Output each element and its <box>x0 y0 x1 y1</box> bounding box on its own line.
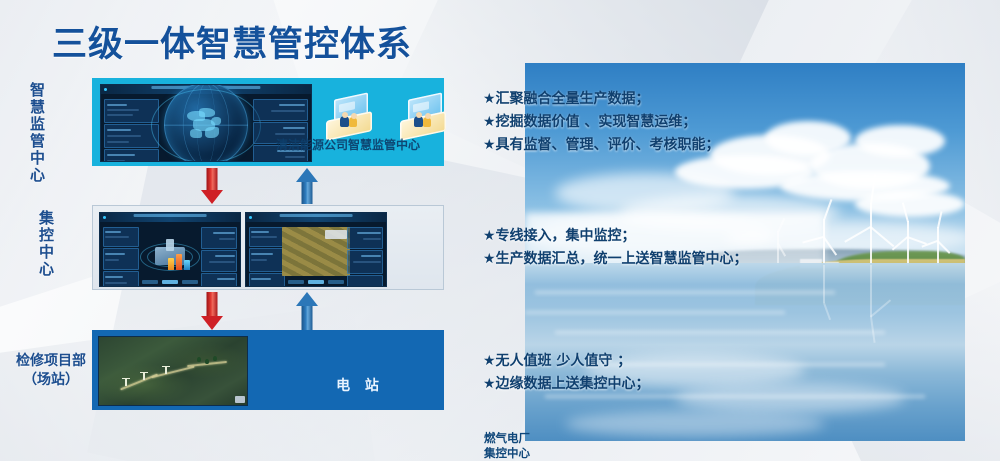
water-streak <box>535 291 835 294</box>
screen-tabs <box>288 280 344 284</box>
bullet-item: ★生产数据汇总，统一上送智慧监管中心； <box>483 248 748 271</box>
level-label-line1: 检修项目部 <box>5 352 97 371</box>
wind-turbine <box>823 219 825 265</box>
map-legend <box>325 230 347 239</box>
water-streak <box>555 331 885 334</box>
panel-centralized-control: 燃气电厂 集控中心 <box>92 205 444 290</box>
cloud-reflection <box>675 383 905 413</box>
bullet-item: ★具有监督、管理、评价、考核职能； <box>483 134 720 157</box>
bar <box>168 258 174 270</box>
china-map <box>181 105 229 145</box>
level-label-centralized-control: 集控中心 <box>36 210 57 278</box>
slide-canvas: 三级一体智慧管控体系 智慧监管中心 集控中心 检修项目部 （场站） <box>0 0 1000 461</box>
terrain-map <box>282 227 349 276</box>
panel-middle-caption-line2: 集控中心 <box>467 446 547 461</box>
map-scale-badge <box>235 396 245 403</box>
bullet-group-maintenance-site: ★无人值班 少人值守 ； ★边缘数据上送集控中心； <box>483 350 650 396</box>
wind-turbine <box>907 221 909 265</box>
arrow-down-bottom <box>200 292 224 330</box>
page-title: 三级一体智慧管控体系 <box>52 16 412 67</box>
bullet-group-centralized-control: ★专线接入，集中监控； ★生产数据汇总，统一上送智慧监管中心； <box>483 225 748 271</box>
bullet-group-smart-supervision: ★汇聚融合全量生产数据； ★挖掘数据价值 、实现智慧运维； ★具有监督、管理、评… <box>483 88 720 157</box>
panel-bottom-caption: 电 站 <box>300 375 420 395</box>
panel-middle-caption-line1: 燃气电厂 <box>467 431 547 446</box>
cloud-reflection <box>565 411 825 437</box>
screen-left-column <box>249 225 285 282</box>
bar <box>184 260 190 270</box>
satellite-terrain-screen <box>98 336 248 406</box>
bullet-item: ★挖掘数据价值 、实现智慧运维； <box>483 111 720 134</box>
level-label-line2: （场站） <box>5 371 97 390</box>
panel-maintenance-site <box>92 330 444 410</box>
site-turbine-marker <box>165 367 167 374</box>
arrow-up-bottom <box>295 292 319 330</box>
screen-header <box>100 213 240 222</box>
site-turbine-marker <box>143 373 145 380</box>
plant-tower <box>166 239 174 251</box>
screen-left-column <box>103 225 139 282</box>
screen-header <box>246 213 386 222</box>
bullet-item: ★专线接入，集中监控； <box>483 225 748 248</box>
level-label-maintenance-site: 检修项目部 （场站） <box>5 352 97 390</box>
dashboard-screen-terrain <box>245 212 387 287</box>
screen-right-column <box>201 225 237 282</box>
bullet-item: ★边缘数据上送集控中心； <box>483 373 650 396</box>
wind-turbine <box>870 203 872 265</box>
arrow-down-top <box>200 168 224 204</box>
bar <box>176 254 182 270</box>
panel-middle-caption: 燃气电厂 集控中心 <box>467 431 547 461</box>
bullet-item: ★汇聚融合全量生产数据； <box>483 88 720 111</box>
tree-marker <box>213 356 217 361</box>
cloud <box>855 125 945 157</box>
wind-turbine <box>777 231 779 265</box>
wind-turbine <box>937 227 939 265</box>
site-turbine-marker <box>125 379 127 386</box>
screen-tabs <box>142 280 198 284</box>
workstation-icon <box>398 96 448 138</box>
dashboard-screen-plant-3d <box>99 212 241 287</box>
tree-marker <box>205 359 209 364</box>
turbine-reflection <box>823 265 825 303</box>
screen-right-column <box>347 225 383 282</box>
tree-marker <box>197 357 201 362</box>
workstation-icon <box>324 96 374 138</box>
panel-top-caption: 清洁能源公司智慧监管中心 <box>258 136 438 153</box>
bullet-item: ★无人值班 少人值守 ； <box>483 350 650 373</box>
arrow-up-top <box>295 168 319 204</box>
turbine-reflection <box>870 265 872 317</box>
level-label-smart-supervision: 智慧监管中心 <box>27 82 48 184</box>
water-streak <box>525 311 785 314</box>
